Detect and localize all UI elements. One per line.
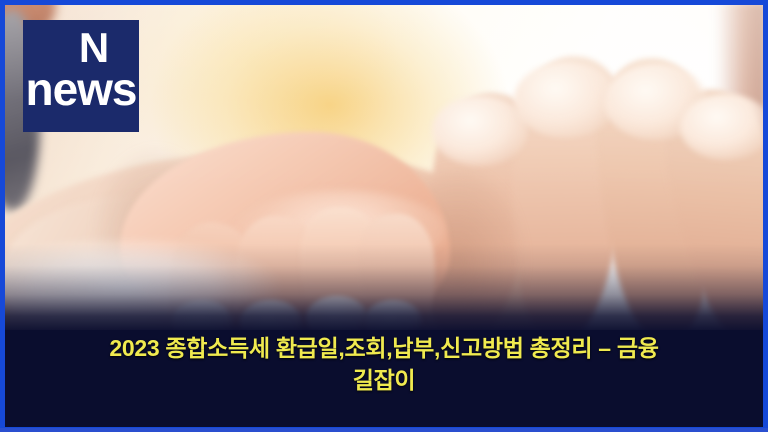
- adult-fingertip-1: [432, 96, 528, 166]
- caption-text: 2023 종합소득세 환급일,조회,납부,신고방법 총정리 – 금융 길잡이: [0, 332, 768, 396]
- n-news-logo: N news: [23, 20, 139, 132]
- logo-wordmark-news: news: [23, 64, 139, 114]
- adult-fingertip-2: [514, 62, 618, 138]
- photo-bottom-white-wash: [0, 238, 290, 330]
- thumbnail-canvas: 2023 종합소득세 환급일,조회,납부,신고방법 총정리 – 금융 길잡이 N…: [0, 0, 768, 432]
- adult-fingertip-4: [680, 94, 768, 160]
